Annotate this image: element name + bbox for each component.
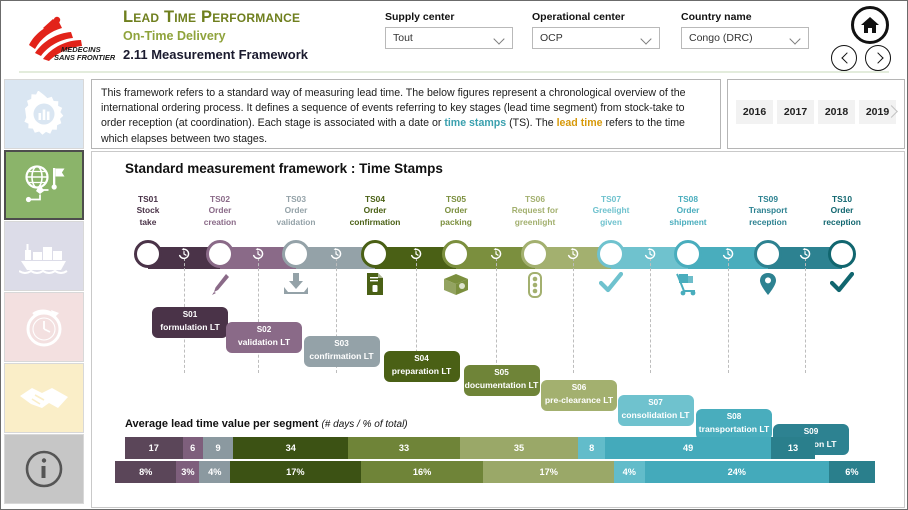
country-name-label: Country name <box>681 11 809 23</box>
timestamp-label-TS10: TS10Orderreception <box>802 194 882 228</box>
segment-dashed-line <box>258 258 259 373</box>
segment-label: documentation LT <box>464 380 540 390</box>
previous-page-button[interactable] <box>831 45 857 71</box>
timestamp-id: TS09 <box>728 194 808 205</box>
timestamp-line1: Greelight <box>571 205 651 216</box>
year-button-2016[interactable]: 2016 <box>736 100 773 124</box>
home-button[interactable] <box>851 6 889 44</box>
segment-id: S01 <box>152 310 228 319</box>
inbox-download-icon <box>282 272 310 301</box>
clock-arrow-icon <box>177 247 191 261</box>
segment-id: S04 <box>384 354 460 363</box>
timestamp-id: TS02 <box>180 194 260 205</box>
timestamp-line1: Stock <box>108 205 188 216</box>
segment-id: S03 <box>304 339 380 348</box>
segment-pill-S04[interactable]: S04preparation LT <box>384 351 460 382</box>
hand-truck-icon <box>674 272 702 301</box>
supply-center-value: Tout <box>393 32 413 44</box>
timestamp-node-TS10[interactable] <box>828 240 856 268</box>
paintbrush-icon <box>206 272 234 301</box>
timestamp-node-TS08[interactable] <box>674 240 702 268</box>
segment-id: S05 <box>464 368 540 377</box>
timestamp-id: TS01 <box>108 194 188 205</box>
year-filter-panel: 2016 2017 2018 2019 <box>727 79 905 149</box>
map-pin-icon <box>754 272 782 301</box>
percent-cell-S07[interactable]: 4% <box>614 461 645 483</box>
segment-pill-S05[interactable]: S05documentation LT <box>464 365 540 396</box>
box-icon <box>442 272 470 301</box>
timestamp-line1: Order <box>335 205 415 216</box>
avg-title-main: Average lead time value per segment <box>125 418 318 430</box>
timestamp-node-TS07[interactable] <box>597 240 625 268</box>
checkmark-icon <box>828 272 856 299</box>
days-cell-S07[interactable]: 8 <box>578 437 605 459</box>
timestamp-node-TS01[interactable] <box>134 240 162 268</box>
segment-label: confirmation LT <box>304 351 380 361</box>
year-buttons: 2016 2017 2018 2019 <box>736 100 896 124</box>
supply-center-selector: Supply center Tout <box>385 11 513 49</box>
country-name-value: Congo (DRC) <box>689 32 753 44</box>
framework-description-panel: This framework refers to a standard way … <box>91 79 721 149</box>
timestamp-label-TS05: TS05Orderpacking <box>416 194 496 228</box>
timestamp-label-TS03: TS03Ordervalidation <box>256 194 336 228</box>
timestamp-id: TS07 <box>571 194 651 205</box>
year-button-2018[interactable]: 2018 <box>818 100 855 124</box>
timestamp-node-TS06[interactable] <box>521 240 549 268</box>
home-icon <box>860 15 880 35</box>
percent-cell-S02[interactable]: 3% <box>176 461 199 483</box>
chevron-down-icon <box>791 35 800 44</box>
operational-center-dropdown[interactable]: OCP <box>532 27 660 49</box>
timestamp-line2: reception <box>728 217 808 228</box>
days-cell-S05[interactable]: 33 <box>348 437 460 459</box>
country-name-selector: Country name Congo (DRC) <box>681 11 809 49</box>
timestamp-label-TS06: TS06Request forgreenlight <box>495 194 575 228</box>
days-cell-S01[interactable]: 17 <box>125 437 183 459</box>
segment-label: formulation LT <box>152 322 228 332</box>
operational-center-label: Operational center <box>532 11 660 23</box>
handshake-icon <box>18 382 70 414</box>
sidebar-item-shipping[interactable] <box>4 221 84 291</box>
segment-dashed-line <box>573 258 574 373</box>
timestamp-node-TS05[interactable] <box>442 240 470 268</box>
segment-pill-S08[interactable]: S08transportation LT <box>696 409 772 440</box>
framework-description-text: This framework refers to a standard way … <box>101 86 711 147</box>
lead-time-keyword: lead time <box>557 117 603 129</box>
percent-stacked-bar: 8%3%4%17%16%17%4%24%6% <box>115 461 875 483</box>
document-icon <box>361 272 389 301</box>
percent-cell-S08[interactable]: 24% <box>645 461 829 483</box>
timestamp-label-TS08: TS08Ordershipment <box>648 194 728 228</box>
clock-arrow-icon <box>643 247 657 261</box>
timestamp-node-TS09[interactable] <box>754 240 782 268</box>
segment-pill-S07[interactable]: S07consolidation LT <box>618 395 694 426</box>
page-section: 2.11 Measurement Framework <box>123 46 308 63</box>
msf-logo: MEDECINS SANS FRONTIERES <box>19 13 115 65</box>
clock-arrow-icon <box>566 247 580 261</box>
cargo-ship-icon <box>19 238 69 274</box>
percent-cell-S04[interactable]: 17% <box>230 461 361 483</box>
operational-center-value: OCP <box>540 32 563 44</box>
timestamp-id: TS06 <box>495 194 575 205</box>
segment-pill-S01[interactable]: S01formulation LT <box>152 307 228 338</box>
segment-pill-S06[interactable]: S06pre-clearance LT <box>541 380 617 411</box>
globe-flag-icon <box>20 162 68 208</box>
timestamp-line1: Order <box>802 205 882 216</box>
logo-text-line2: SANS FRONTIERES <box>54 53 115 62</box>
segment-id: S07 <box>618 398 694 407</box>
days-cell-S09[interactable]: 13 <box>771 437 815 459</box>
header-divider <box>19 71 889 73</box>
timestamp-label-TS04: TS04Orderconfirmation <box>335 194 415 228</box>
timestamp-node-TS03[interactable] <box>282 240 310 268</box>
timestamp-label-TS02: TS02Ordercreation <box>180 194 260 228</box>
percent-cell-S05[interactable]: 16% <box>361 461 484 483</box>
next-page-button[interactable] <box>865 45 891 71</box>
stopwatch-icon <box>21 304 67 350</box>
percent-cell-S03[interactable]: 4% <box>199 461 230 483</box>
timestamp-line2: confirmation <box>335 217 415 228</box>
timestamp-line1: Order <box>180 205 260 216</box>
avg-title-note: (# days / % of total) <box>321 419 407 430</box>
timestamp-line2: reception <box>802 217 882 228</box>
supply-center-label: Supply center <box>385 11 513 23</box>
segment-pill-S03[interactable]: S03confirmation LT <box>304 336 380 367</box>
days-cell-S08[interactable]: 49 <box>605 437 771 459</box>
traffic-light-icon <box>521 272 549 303</box>
chevron-right-icon <box>875 53 883 61</box>
timestamp-line2: take <box>108 217 188 228</box>
timestamp-id: TS08 <box>648 194 728 205</box>
clock-arrow-icon <box>489 247 503 261</box>
clock-arrow-icon <box>251 247 265 261</box>
application-window: MEDECINS SANS FRONTIERES Lead Time Perfo… <box>0 0 908 510</box>
checkmark-icon <box>597 272 625 299</box>
days-stacked-bar: 176934333584913 <box>125 437 815 459</box>
days-cell-S06[interactable]: 35 <box>460 437 578 459</box>
timestamp-node-TS02[interactable] <box>206 240 234 268</box>
page-title: Lead Time Performance <box>123 7 308 27</box>
percent-cell-S09[interactable]: 6% <box>829 461 875 483</box>
timestamp-line1: Order <box>256 205 336 216</box>
timestamp-line2: greenlight <box>495 217 575 228</box>
page-subtitle: On-Time Delivery <box>123 28 308 45</box>
clock-arrow-icon <box>329 247 343 261</box>
timestamp-node-TS04[interactable] <box>361 240 389 268</box>
year-button-2017[interactable]: 2017 <box>777 100 814 124</box>
chevron-down-icon <box>495 35 504 44</box>
segment-label: validation LT <box>226 337 302 347</box>
sidebar-item-partnership[interactable] <box>4 363 84 433</box>
timestamp-line1: Order <box>416 205 496 216</box>
days-cell-S03[interactable]: 9 <box>203 437 233 459</box>
segment-label: pre-clearance LT <box>541 395 617 405</box>
app-header: MEDECINS SANS FRONTIERES Lead Time Perfo… <box>1 1 907 73</box>
clock-arrow-icon <box>721 247 735 261</box>
segment-label: preparation LT <box>384 366 460 376</box>
timestamp-line2: creation <box>180 217 260 228</box>
days-cell-S02[interactable]: 6 <box>183 437 203 459</box>
timestamp-line1: Request for <box>495 205 575 216</box>
timestamp-line2: validation <box>256 217 336 228</box>
segment-label: consolidation LT <box>618 410 694 420</box>
timestamp-line1: Transport <box>728 205 808 216</box>
average-lead-time-title: Average lead time value per segment (# d… <box>125 418 408 430</box>
segment-id: S08 <box>696 412 772 421</box>
timestamp-line1: Order <box>648 205 728 216</box>
timestamp-id: TS03 <box>256 194 336 205</box>
desc-part2: (TS). The <box>506 117 556 129</box>
segment-dashed-line <box>496 258 497 373</box>
days-cell-S04[interactable]: 34 <box>233 437 348 459</box>
clock-arrow-icon <box>798 247 812 261</box>
timestamp-line2: shipment <box>648 217 728 228</box>
percent-cell-S01[interactable]: 8% <box>115 461 176 483</box>
segment-dashed-line <box>805 258 806 373</box>
timestamp-id: TS05 <box>416 194 496 205</box>
chevron-down-icon <box>642 35 651 44</box>
sidebar-item-measurement-framework[interactable] <box>4 150 84 220</box>
timestamp-id: TS10 <box>802 194 882 205</box>
year-scroll-next-icon[interactable] <box>886 105 898 119</box>
timestamp-label-TS09: TS09Transportreception <box>728 194 808 228</box>
clock-arrow-icon <box>409 247 423 261</box>
timestamp-label-TS01: TS01Stocktake <box>108 194 188 228</box>
measurement-framework-card: Standard measurement framework : Time St… <box>91 151 905 508</box>
segment-id: S06 <box>541 383 617 392</box>
left-sidebar <box>4 79 86 505</box>
segment-id: S09 <box>773 427 849 436</box>
timestamp-label-TS07: TS07Greelightgiven <box>571 194 651 228</box>
sidebar-item-dashboard[interactable] <box>4 79 84 149</box>
timestamp-line2: given <box>571 217 651 228</box>
percent-cell-S06[interactable]: 17% <box>483 461 614 483</box>
segment-label: transportation LT <box>696 424 772 434</box>
chevron-left-icon <box>841 53 849 61</box>
header-titles: Lead Time Performance On-Time Delivery 2… <box>123 7 308 63</box>
timestamp-line2: packing <box>416 217 496 228</box>
timestamp-id: TS04 <box>335 194 415 205</box>
info-icon <box>23 448 65 490</box>
operational-center-selector: Operational center OCP <box>532 11 660 49</box>
segment-dashed-line <box>650 258 651 373</box>
segment-dashed-line <box>728 258 729 373</box>
country-name-dropdown[interactable]: Congo (DRC) <box>681 27 809 49</box>
time-stamps-keyword: time stamps <box>444 117 506 129</box>
segment-id: S02 <box>226 325 302 334</box>
gear-chart-icon <box>21 91 67 137</box>
sidebar-item-lead-time[interactable] <box>4 292 84 362</box>
supply-center-dropdown[interactable]: Tout <box>385 27 513 49</box>
sidebar-item-information[interactable] <box>4 434 84 504</box>
segment-pill-S02[interactable]: S02validation LT <box>226 322 302 353</box>
